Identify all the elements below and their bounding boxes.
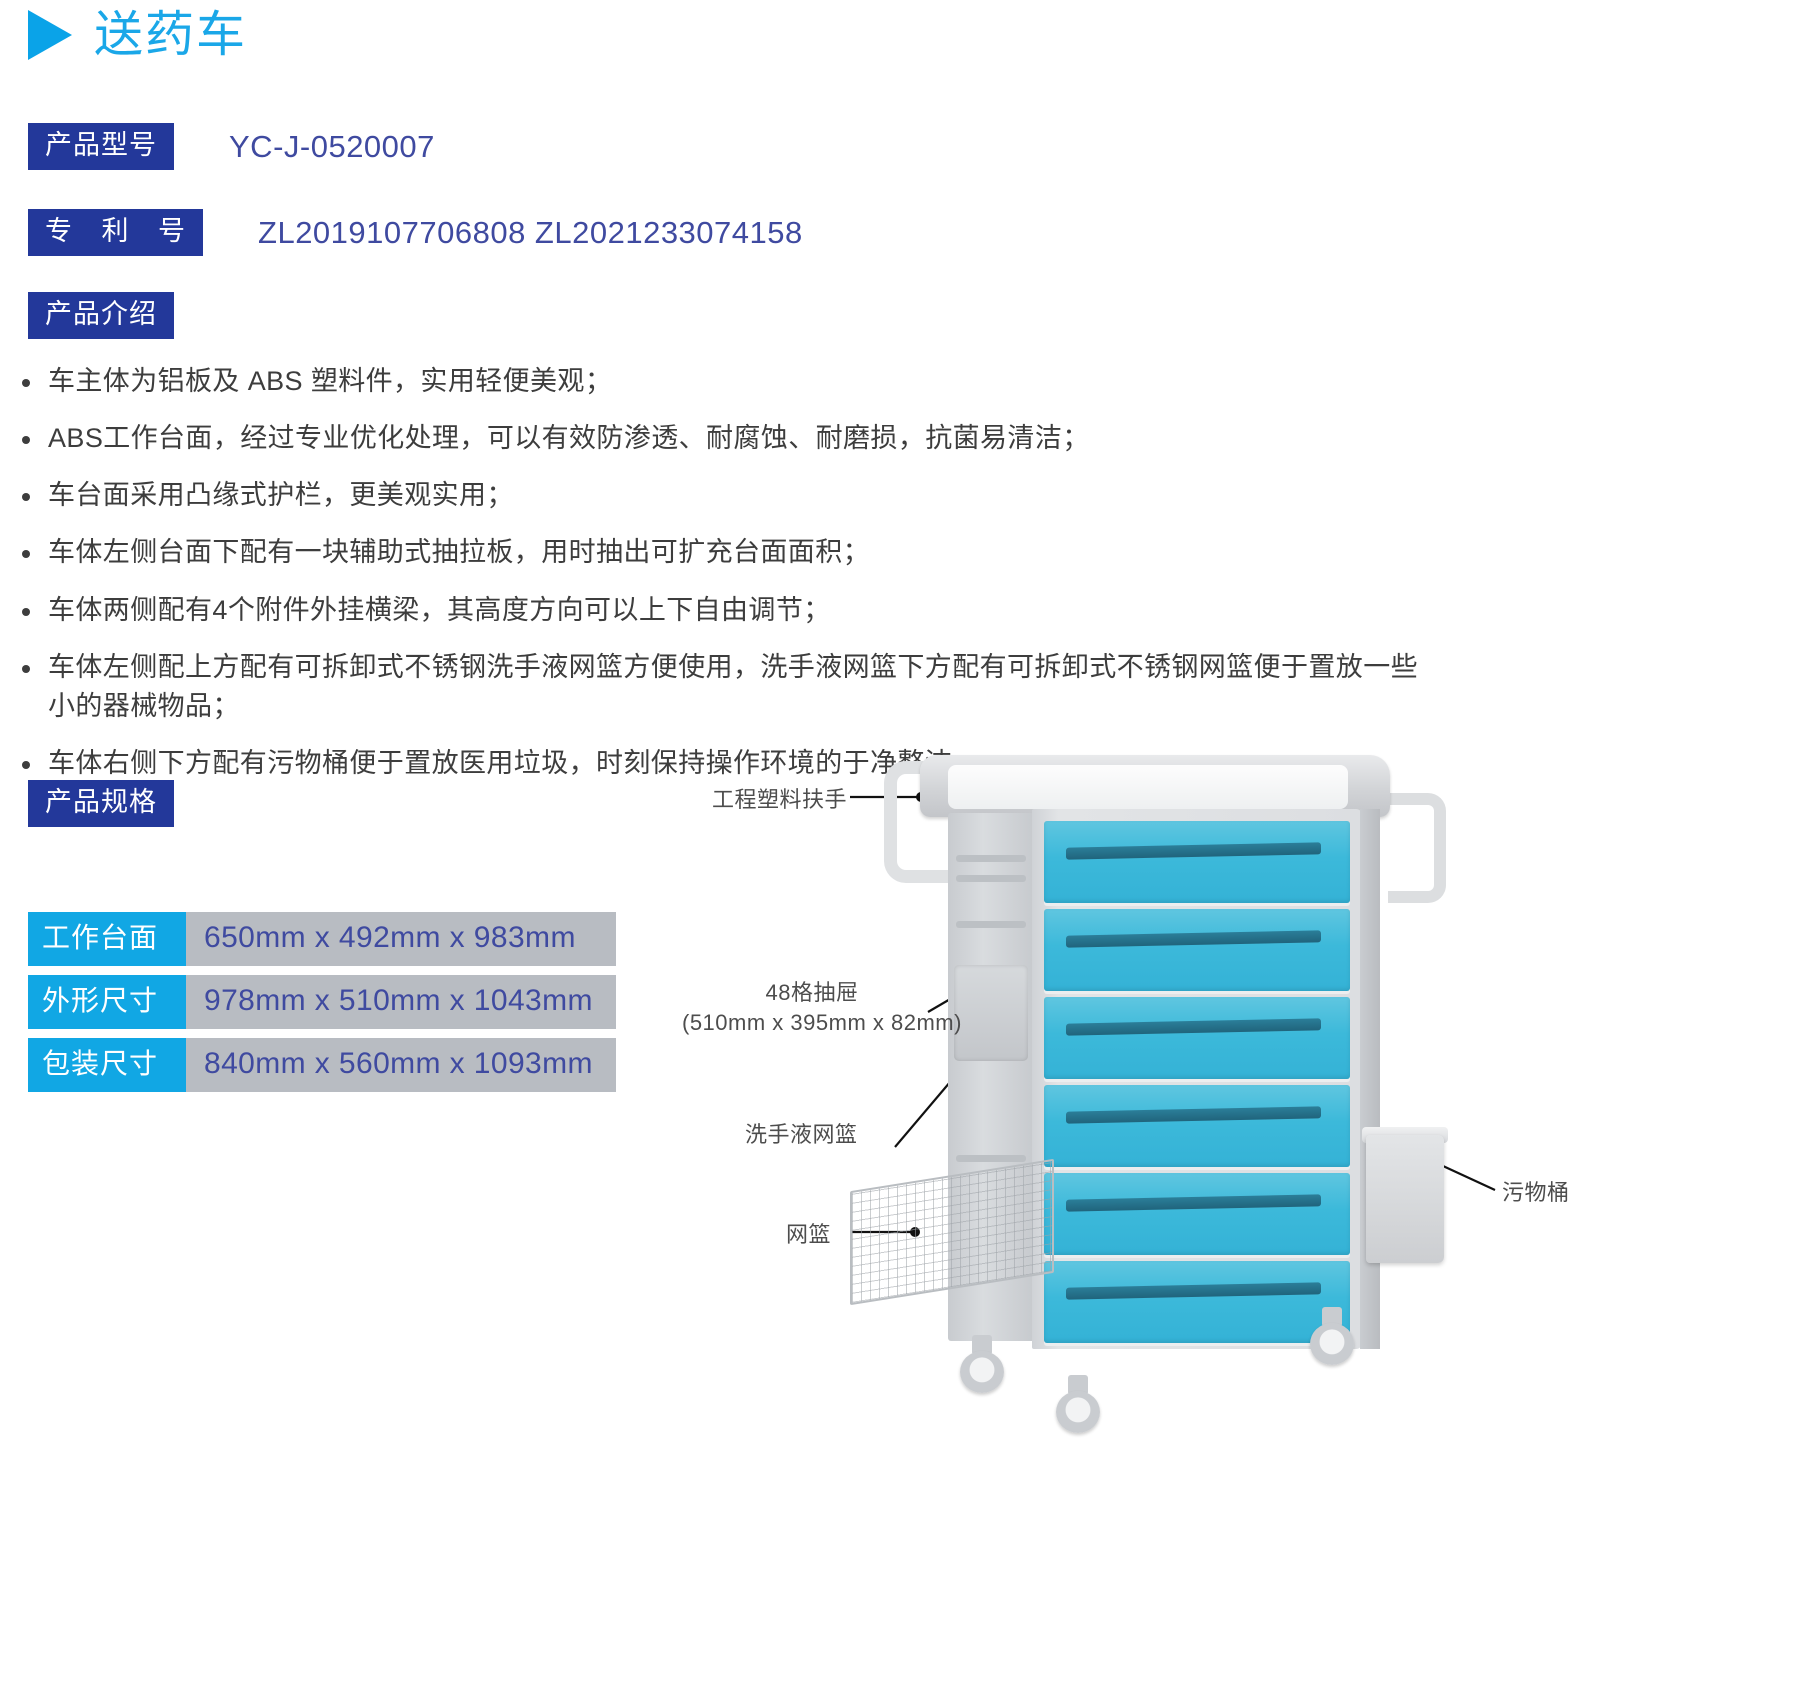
callout-drawer-dimensions: (510mm x 395mm x 82mm) (682, 1008, 942, 1038)
play-triangle-icon (28, 10, 72, 60)
bullet-dot-icon (22, 493, 30, 501)
cart-drawer (1044, 997, 1350, 1079)
callout-wire-basket-text: 网篮 (786, 1222, 831, 1247)
cart-drawer (1044, 1261, 1350, 1343)
table-row: 包装尺寸 840mm x 560mm x 1093mm (28, 1038, 616, 1092)
list-item: ABS工作台面，经过专业优化处理，可以有效防渗透、耐腐蚀、耐磨损，抗菌易清洁； (22, 419, 1442, 458)
cart-drawer (1044, 909, 1350, 991)
bullet-dot-icon (22, 665, 30, 673)
list-item: 车台面采用凸缘式护栏，更美观实用； (22, 476, 1442, 515)
list-item-text: 车体左侧配上方配有可拆卸式不锈钢洗手液网篮方便使用，洗手液网篮下方配有可拆卸式不… (48, 648, 1442, 726)
page-title: 送药车 (28, 10, 247, 60)
patent-number-row: 专 利 号 ZL2019107706808 ZL2021233074158 (28, 209, 803, 256)
cart-drawer (1044, 821, 1350, 903)
cart-drawer (1044, 1173, 1350, 1255)
list-item-text: 车主体为铝板及 ABS 塑料件，实用轻便美观； (48, 362, 1442, 401)
drawer-grip (1066, 1282, 1321, 1299)
table-row: 外形尺寸 978mm x 510mm x 1043mm (28, 975, 616, 1029)
drawer-grip (1066, 1018, 1321, 1035)
product-model-row: 产品型号 YC-J-0520007 (28, 123, 435, 170)
waste-bin-graphic (1366, 1135, 1444, 1263)
patent-number-value: ZL2019107706808 ZL2021233074158 (258, 215, 803, 251)
cart-soap-basket (954, 965, 1028, 1061)
bullet-dot-icon (22, 550, 30, 558)
cart-right-frame (1360, 809, 1380, 1349)
spec-value-worktop: 650mm x 492mm x 983mm (186, 912, 616, 966)
product-model-value: YC-J-0520007 (229, 129, 435, 165)
bullet-dot-icon (22, 761, 30, 769)
drawer-grip (1066, 930, 1321, 947)
list-item-text: 车体左侧台面下配有一块辅助式抽拉板，用时抽出可扩充台面面积； (48, 533, 1442, 572)
cart-caster (1056, 1375, 1100, 1433)
bullet-dot-icon (22, 379, 30, 387)
cart-accessory-rail (956, 921, 1026, 928)
specifications-table: 工作台面 650mm x 492mm x 983mm 外形尺寸 978mm x … (28, 912, 616, 1101)
callout-waste-bin-text: 污物桶 (1502, 1180, 1570, 1205)
callout-handle: 工程塑料扶手 (712, 785, 847, 815)
list-item: 车体两侧配有4个附件外挂横梁，其高度方向可以上下自由调节； (22, 591, 1442, 630)
list-item-text: 车台面采用凸缘式护栏，更美观实用； (48, 476, 1442, 515)
cart-worktop-surface (948, 765, 1348, 809)
callout-drawer-title: 48格抽屉 (682, 978, 942, 1008)
section-heading-specifications: 产品规格 (28, 780, 174, 827)
spec-key-overall: 外形尺寸 (28, 975, 186, 1029)
callout-handle-text: 工程塑料扶手 (712, 787, 847, 812)
callout-wire-basket: 网篮 (786, 1220, 831, 1250)
spec-key-packaging: 包装尺寸 (28, 1038, 186, 1092)
cart-caster (960, 1335, 1004, 1393)
caster-wheel (960, 1351, 1004, 1393)
caster-wheel (1310, 1323, 1354, 1365)
caster-wheel (1056, 1391, 1100, 1433)
product-model-label: 产品型号 (28, 123, 174, 170)
list-item-text: ABS工作台面，经过专业优化处理，可以有效防渗透、耐腐蚀、耐磨损，抗菌易清洁； (48, 419, 1442, 458)
cart-accessory-rail (956, 875, 1026, 882)
list-item: 车主体为铝板及 ABS 塑料件，实用轻便美观； (22, 362, 1442, 401)
spec-key-worktop: 工作台面 (28, 912, 186, 966)
callout-soap-basket-text: 洗手液网篮 (745, 1122, 858, 1147)
spec-value-packaging: 840mm x 560mm x 1093mm (186, 1038, 616, 1092)
drawer-grip (1066, 1106, 1321, 1123)
page-title-text: 送药车 (94, 11, 247, 60)
cart-drawer (1044, 1085, 1350, 1167)
cart-caster (1310, 1307, 1354, 1365)
product-illustration: 工程塑料扶手 48格抽屉 (510mm x 395mm x 82mm) 洗手液网… (690, 735, 1798, 1435)
cart-drawer-column (1032, 809, 1362, 1349)
callout-drawer: 48格抽屉 (510mm x 395mm x 82mm) (682, 978, 942, 1037)
patent-number-label: 专 利 号 (28, 209, 203, 256)
medicine-cart-graphic (860, 735, 1480, 1435)
drawer-grip (1066, 1194, 1321, 1211)
bullet-dot-icon (22, 608, 30, 616)
cart-accessory-rail (956, 1155, 1026, 1162)
drawer-grip (1066, 842, 1321, 859)
cart-accessory-rail (956, 855, 1026, 862)
table-row: 工作台面 650mm x 492mm x 983mm (28, 912, 616, 966)
callout-soap-basket: 洗手液网篮 (745, 1120, 858, 1150)
spec-value-overall: 978mm x 510mm x 1043mm (186, 975, 616, 1029)
section-heading-intro: 产品介绍 (28, 292, 174, 339)
list-item-text: 车体两侧配有4个附件外挂横梁，其高度方向可以上下自由调节； (48, 591, 1442, 630)
bullet-dot-icon (22, 436, 30, 444)
cart-handle-right (1388, 793, 1446, 903)
list-item: 车体左侧台面下配有一块辅助式抽拉板，用时抽出可扩充台面面积； (22, 533, 1442, 572)
callout-waste-bin: 污物桶 (1502, 1178, 1570, 1208)
list-item: 车体左侧配上方配有可拆卸式不锈钢洗手液网篮方便使用，洗手液网篮下方配有可拆卸式不… (22, 648, 1442, 726)
